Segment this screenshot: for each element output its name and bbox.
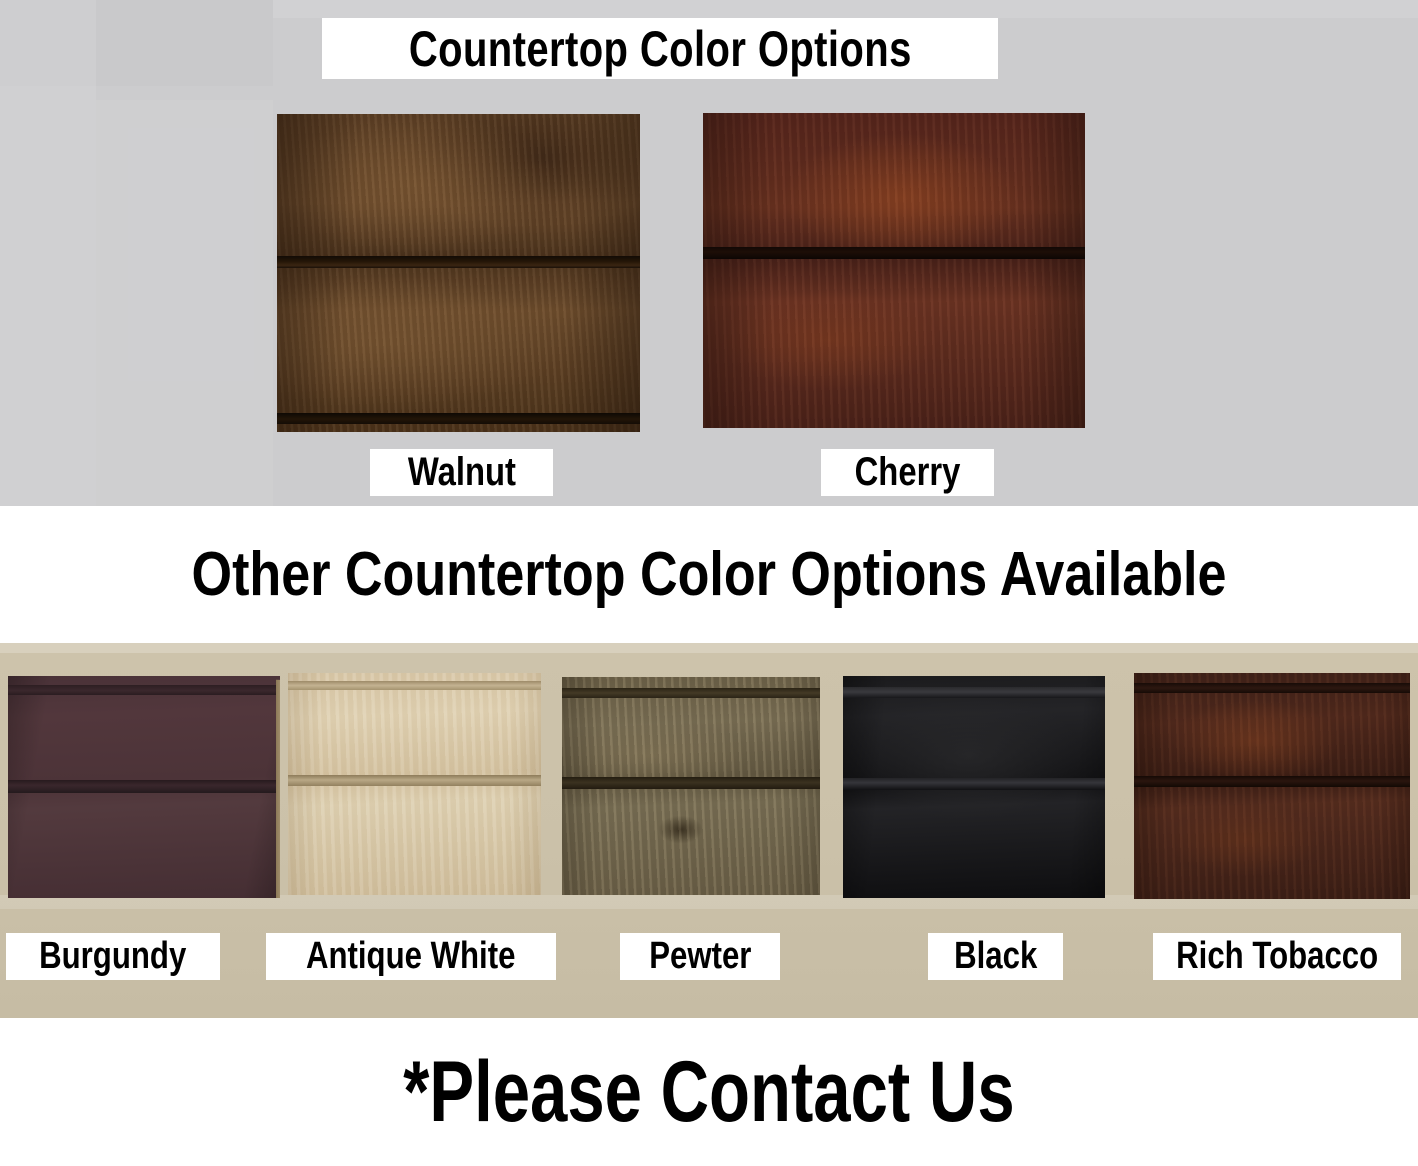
swatch-label-rich-tobacco-text: Rich Tobacco xyxy=(1176,935,1378,978)
swatch-label-antique-white-text: Antique White xyxy=(306,935,515,978)
plank-groove xyxy=(288,775,541,786)
swatch-label-antique-white: Antique White xyxy=(266,933,556,980)
page-title: Countertop Color Options xyxy=(409,24,912,74)
swatch-label-black-text: Black xyxy=(954,935,1037,978)
swatch-label-pewter: Pewter xyxy=(620,933,780,980)
swatch-pewter[interactable] xyxy=(562,677,820,895)
swatch-label-burgundy-text: Burgundy xyxy=(39,935,186,978)
footer-contact-text: *Please Contact Us xyxy=(403,1049,1014,1135)
background-texture-patch xyxy=(273,0,1418,18)
background-texture-patch xyxy=(0,643,1418,653)
plank-groove xyxy=(1134,776,1410,787)
subheading-section: Other Countertop Color Options Available xyxy=(0,506,1418,643)
swatch-cherry[interactable] xyxy=(703,113,1085,428)
swatch-walnut[interactable] xyxy=(277,114,640,432)
swatch-label-cherry-text: Cherry xyxy=(855,450,961,495)
swatch-antique-white[interactable] xyxy=(288,673,541,895)
swatch-burgundy[interactable] xyxy=(8,676,280,898)
background-texture-patch xyxy=(96,0,273,100)
footer-section: *Please Contact Us xyxy=(0,1018,1418,1166)
plank-groove xyxy=(562,688,820,698)
swatch-label-black: Black xyxy=(928,933,1063,980)
background-texture-patch xyxy=(0,86,273,506)
plank-groove xyxy=(703,247,1085,259)
plank-groove xyxy=(277,413,640,424)
plank-edge xyxy=(276,680,280,898)
swatch-label-burgundy: Burgundy xyxy=(6,933,220,980)
swatch-label-walnut: Walnut xyxy=(370,449,553,496)
plank-groove xyxy=(277,256,640,268)
subheading-text: Other Countertop Color Options Available xyxy=(192,544,1227,606)
swatch-label-walnut-text: Walnut xyxy=(407,450,515,495)
swatch-label-cherry: Cherry xyxy=(821,449,994,496)
page-title-band: Countertop Color Options xyxy=(322,18,998,79)
plank-groove xyxy=(843,778,1105,790)
plank-groove xyxy=(562,777,820,789)
plank-groove xyxy=(288,681,541,690)
plank-groove xyxy=(8,780,280,793)
plank-groove xyxy=(1134,683,1410,693)
plank-groove xyxy=(8,685,280,695)
swatch-black[interactable] xyxy=(843,676,1105,898)
swatch-rich-tobacco[interactable] xyxy=(1134,673,1410,899)
swatch-label-rich-tobacco: Rich Tobacco xyxy=(1153,933,1401,980)
countertop-color-options-page: Countertop Color Options Walnut Cherry O… xyxy=(0,0,1418,1166)
plank-groove xyxy=(843,687,1105,698)
swatch-label-pewter-text: Pewter xyxy=(649,935,751,978)
